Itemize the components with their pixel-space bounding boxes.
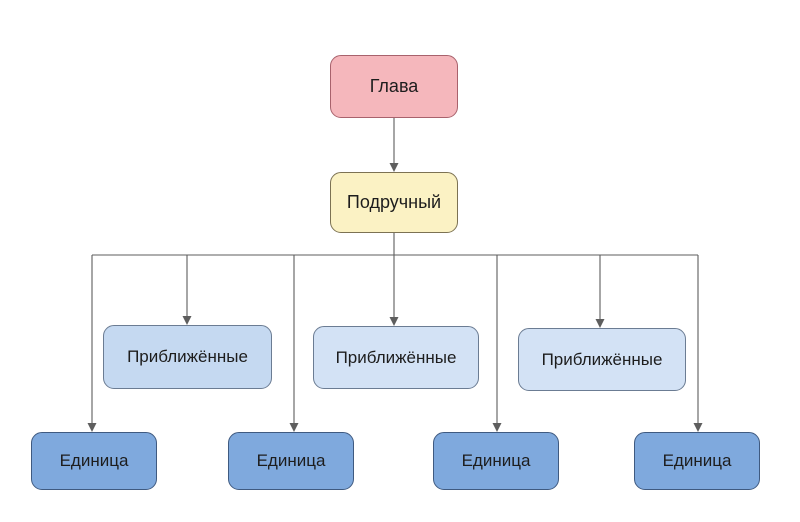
connector-arrowhead-icon: [390, 317, 399, 326]
connector-arrowhead-icon: [183, 316, 192, 325]
connector-arrowhead-icon: [493, 423, 502, 432]
node-edinica-1[interactable]: Единица: [31, 432, 157, 490]
node-priblizhennye-2[interactable]: Приближённые: [313, 326, 479, 389]
connector-arrowhead-icon: [596, 319, 605, 328]
node-label: Приближённые: [330, 348, 463, 368]
node-label: Единица: [251, 451, 332, 471]
node-priblizhennye-3[interactable]: Приближённые: [518, 328, 686, 391]
node-edinica-3[interactable]: Единица: [433, 432, 559, 490]
node-label: Глава: [364, 76, 425, 97]
org-chart-diagram: ГлаваПодручныйПриближённыеПриближённыеПр…: [0, 0, 800, 522]
node-podruchny[interactable]: Подручный: [330, 172, 458, 233]
connector-arrowhead-icon: [694, 423, 703, 432]
node-edinica-2[interactable]: Единица: [228, 432, 354, 490]
connector-arrowhead-icon: [88, 423, 97, 432]
node-priblizhennye-1[interactable]: Приближённые: [103, 325, 272, 389]
node-label: Единица: [657, 451, 738, 471]
node-label: Приближённые: [536, 350, 669, 370]
node-label: Подручный: [341, 192, 447, 213]
node-label: Приближённые: [121, 347, 254, 367]
connector-arrowhead-icon: [390, 163, 399, 172]
connector-arrowhead-icon: [290, 423, 299, 432]
node-label: Единица: [456, 451, 537, 471]
node-glava[interactable]: Глава: [330, 55, 458, 118]
node-label: Единица: [54, 451, 135, 471]
node-edinica-4[interactable]: Единица: [634, 432, 760, 490]
